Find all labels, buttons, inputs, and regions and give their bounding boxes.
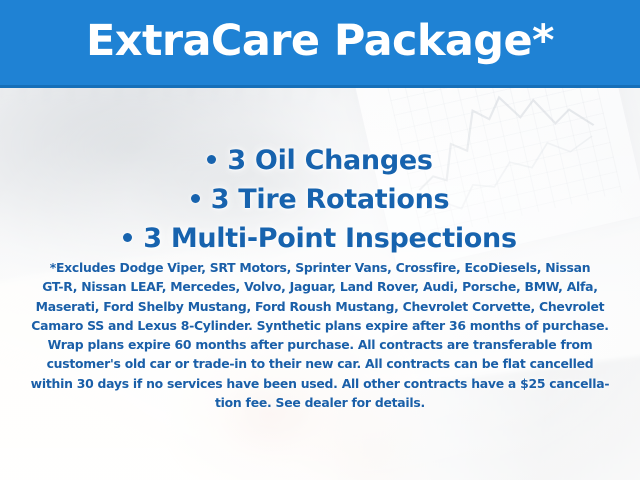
list-item: 3 Tire Rotations	[0, 180, 640, 219]
list-item: 3 Oil Changes	[0, 141, 640, 180]
disclaimer-line: tion fee. See dealer for details.	[30, 393, 610, 412]
benefit-label: 3 Tire Rotations	[211, 184, 450, 215]
bullet-circle-icon	[191, 194, 200, 203]
disclaimer-line: Maserati, Ford Shelby Mustang, Ford Rous…	[30, 297, 610, 316]
disclaimer-line: Wrap plans expire 60 months after purcha…	[30, 335, 610, 354]
disclaimer-line: within 30 days if no services have been …	[30, 374, 610, 393]
disclaimer-text: *Excludes Dodge Viper, SRT Motors, Sprin…	[0, 258, 640, 412]
page-title: ExtraCare Package*	[86, 20, 554, 65]
bullet-circle-icon	[207, 155, 216, 164]
disclaimer-line: Camaro SS and Lexus 8-Cylinder. Syntheti…	[30, 316, 610, 335]
benefits-list: 3 Oil Changes 3 Tire Rotations 3 Multi-P…	[0, 91, 640, 258]
disclaimer-line: customer's old car or trade-in to their …	[30, 354, 610, 373]
header-banner: ExtraCare Package*	[0, 0, 640, 88]
benefit-label: 3 Oil Changes	[227, 145, 432, 176]
main-content: 3 Oil Changes 3 Tire Rotations 3 Multi-P…	[0, 91, 640, 480]
disclaimer-line: GT-R, Nissan LEAF, Mercedes, Volvo, Jagu…	[30, 277, 610, 296]
list-item: 3 Multi-Point Inspections	[0, 219, 640, 258]
bullet-circle-icon	[123, 233, 132, 242]
benefit-label: 3 Multi-Point Inspections	[143, 223, 517, 254]
disclaimer-line: *Excludes Dodge Viper, SRT Motors, Sprin…	[30, 258, 610, 277]
extracare-package-card: ExtraCare Package* 3 Oil Changes 3 Tire …	[0, 0, 640, 480]
